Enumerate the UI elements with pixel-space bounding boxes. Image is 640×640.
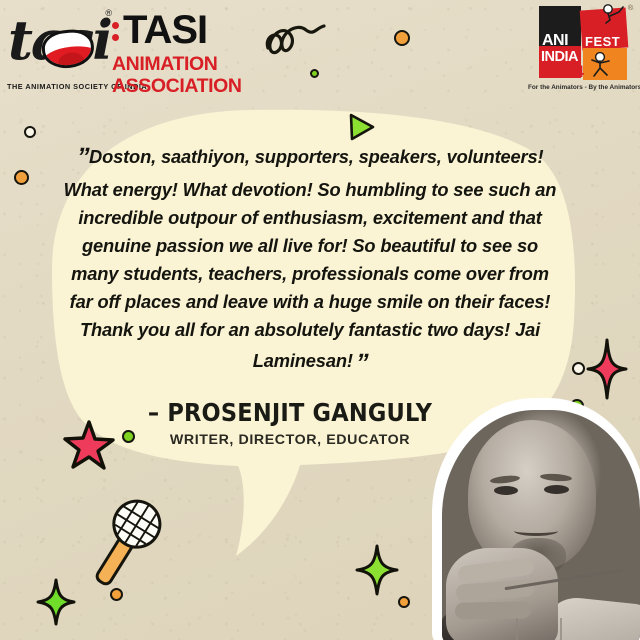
microphone-icon — [86, 495, 164, 595]
tasi-title: TASI — [123, 10, 207, 50]
dot-orange-left — [14, 170, 29, 185]
quote-close-mark: ” — [352, 344, 372, 382]
star-red-left-icon — [62, 418, 116, 472]
quote-block: ”Doston, saathiyon, supporters, speakers… — [60, 138, 560, 382]
anifest-logo: ANI INDIA FEST 24 ® For the Animators - … — [528, 4, 636, 102]
tasi-animation-line: ANIMATION — [112, 54, 262, 76]
dot-orange-top — [394, 30, 410, 46]
tasi-mark: tasi ® — [6, 6, 118, 78]
triangle-green-icon — [348, 112, 376, 142]
sparkle-green-bottom-icon — [355, 544, 399, 596]
sparkle-red-right-icon — [586, 338, 628, 400]
tasi-logo: tasi ® THE ANIMATION SOCIETY OF INDIA — [6, 6, 124, 98]
anifest-ani: ANI — [542, 32, 568, 50]
sparkle-green-bottomleft-icon — [36, 578, 76, 626]
colon-dots-icon — [112, 19, 119, 41]
tasi-association-line: ASSOCIATION — [112, 76, 262, 98]
stick-figure-icon — [599, 4, 625, 24]
portrait-photo — [414, 392, 640, 640]
registered-icon: ® — [628, 5, 633, 12]
swirl-doodle-icon — [262, 18, 340, 70]
dot-green-left — [122, 430, 135, 443]
poster-canvas: tasi ® THE ANIMATION SOCIETY OF INDIA TA… — [0, 0, 640, 640]
anifest-fest: FEST — [585, 34, 620, 49]
dot-orange-bottomleft — [110, 588, 123, 601]
dot-green-top — [310, 69, 319, 78]
anifest-year: 24 — [565, 62, 584, 82]
dot-white-left — [24, 126, 36, 138]
stick-figure-icon — [587, 52, 615, 78]
anifest-tagline: For the Animators - By the Animators — [528, 84, 636, 91]
tasi-text-logo: TASI ANIMATION ASSOCIATION — [112, 10, 262, 98]
registered-icon: ® — [105, 8, 112, 18]
quote-text: Doston, saathiyon, supporters, speakers,… — [64, 146, 557, 371]
dot-white-right — [572, 362, 585, 375]
dot-orange-bottom — [398, 596, 410, 608]
